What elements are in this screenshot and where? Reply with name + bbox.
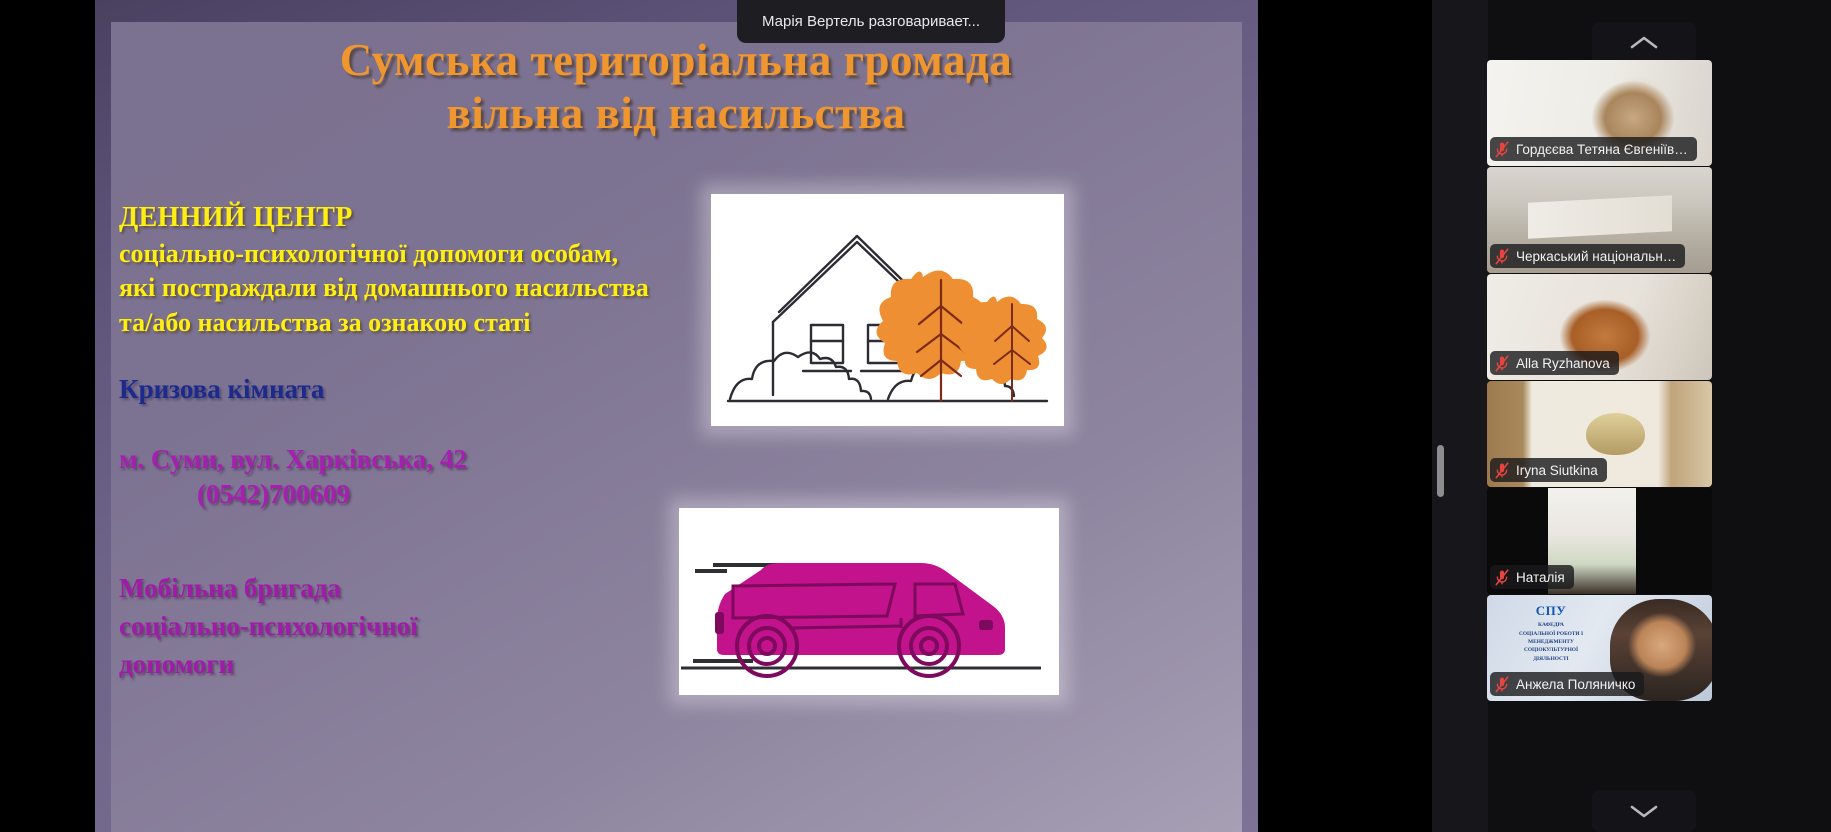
- participant-name: Гордєєва Тетяна Євгеніїв…: [1516, 142, 1688, 157]
- mobile-brigade-line-2: соціально-психологічної: [119, 608, 739, 646]
- crisis-room-label: Кризова кімната: [119, 374, 719, 405]
- spu-logo-text: СПУ: [1491, 601, 1611, 621]
- microphone-muted-icon: [1494, 141, 1510, 158]
- participant-name: Черкаський національн…: [1516, 249, 1676, 264]
- slide-title-line-1: Сумська територіальна громада: [151, 34, 1201, 87]
- filmstrip-scroll-down-button[interactable]: [1592, 790, 1696, 832]
- house-illustration-svg: [711, 194, 1064, 426]
- presentation-slide[interactable]: Сумська територіальна громада вільна від…: [95, 0, 1258, 832]
- address-line: м. Суми, вул. Харківська, 42: [119, 444, 467, 474]
- participant-tiles: Гордєєва Тетяна Євгеніїв… Черкаський нац…: [1487, 60, 1712, 702]
- filmstrip-scrollbar-thumb[interactable]: [1437, 445, 1444, 497]
- microphone-muted-icon: [1494, 569, 1510, 586]
- microphone-muted-icon: [1494, 676, 1510, 693]
- participant-name-badge: Анжела Поляничко: [1490, 672, 1644, 696]
- participant-name-badge: Iryna Siutkina: [1490, 458, 1607, 482]
- vbg-line-1: КАФЕДРА: [1491, 621, 1611, 629]
- participant-name: Alla Ryzhanova: [1516, 356, 1610, 371]
- participant-name: Анжела Поляничко: [1516, 677, 1635, 692]
- participant-name-badge: Alla Ryzhanova: [1490, 351, 1619, 375]
- participant-tile[interactable]: Alla Ryzhanova: [1487, 274, 1712, 380]
- mobile-brigade-block: Мобільна бригада соціально-психологічної…: [119, 570, 739, 683]
- speaking-indicator-toast: Марія Вертель разговаривает...: [737, 0, 1005, 43]
- participant-tile[interactable]: Черкаський національн…: [1487, 167, 1712, 273]
- participant-tile[interactable]: Наталія: [1487, 488, 1712, 594]
- vbg-line-3: МЕНЕДЖМЕНТУ: [1491, 638, 1611, 646]
- participant-name: Наталія: [1516, 570, 1565, 585]
- mobile-van-illustration: [679, 508, 1059, 695]
- filmstrip-scroll-up-button[interactable]: [1592, 22, 1696, 64]
- participant-tile[interactable]: Гордєєва Тетяна Євгеніїв…: [1487, 60, 1712, 166]
- address-block: м. Суми, вул. Харківська, 42 (0542)70060…: [119, 442, 739, 511]
- vbg-line-4: СОЦІОКУЛЬТУРНОЇ: [1491, 646, 1611, 654]
- participant-filmstrip[interactable]: Гордєєва Тетяна Євгеніїв… Черкаський нац…: [1432, 0, 1831, 832]
- slide-title: Сумська територіальна громада вільна від…: [151, 34, 1201, 140]
- microphone-muted-icon: [1494, 355, 1510, 372]
- chevron-down-icon: [1629, 802, 1659, 820]
- microphone-muted-icon: [1494, 462, 1510, 479]
- virtual-background-text: СПУ КАФЕДРА СОЦІАЛЬНОЇ РОБОТИ І МЕНЕДЖМЕ…: [1491, 601, 1611, 663]
- participant-tile[interactable]: Iryna Siutkina: [1487, 381, 1712, 487]
- filmstrip-scrollbar[interactable]: [1432, 0, 1488, 832]
- vbg-line-5: ДІЯЛЬНОСТІ: [1491, 655, 1611, 663]
- shared-content-stage[interactable]: Сумська територіальна громада вільна від…: [0, 0, 1432, 832]
- meeting-screen-share-view: Сумська територіальна громада вільна від…: [0, 0, 1831, 832]
- participant-tile[interactable]: СПУ КАФЕДРА СОЦІАЛЬНОЇ РОБОТИ І МЕНЕДЖМЕ…: [1487, 595, 1712, 701]
- house-with-trees-illustration: [711, 194, 1064, 426]
- vbg-line-2: СОЦІАЛЬНОЇ РОБОТИ І: [1491, 630, 1611, 638]
- participant-name-badge: Черкаський національн…: [1490, 244, 1685, 268]
- participant-name: Iryna Siutkina: [1516, 463, 1598, 478]
- van-illustration-svg: [679, 508, 1059, 695]
- slide-title-line-2: вільна від насильства: [151, 87, 1201, 140]
- mobile-brigade-line-1: Мобільна бригада: [119, 570, 739, 608]
- microphone-muted-icon: [1494, 248, 1510, 265]
- slide-surface: Сумська територіальна громада вільна від…: [111, 22, 1242, 832]
- participant-name-badge: Наталія: [1490, 565, 1574, 589]
- participant-name-badge: Гордєєва Тетяна Євгеніїв…: [1490, 137, 1697, 161]
- mobile-brigade-line-3: допомоги: [119, 646, 739, 684]
- phone-number: (0542)700609: [119, 477, 739, 512]
- chevron-up-icon: [1629, 34, 1659, 52]
